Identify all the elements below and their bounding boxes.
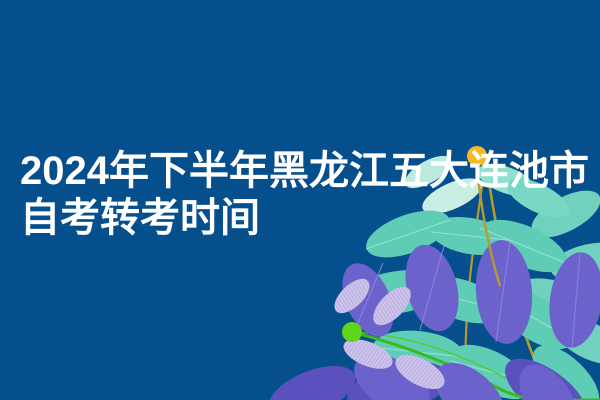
banner-image: 2024年下半年黑龙江五大连池市 自考转考时间	[0, 0, 600, 400]
botanical-decoration	[0, 0, 600, 400]
green-bud-dot	[342, 322, 362, 342]
yellow-bud-dot	[467, 146, 487, 166]
